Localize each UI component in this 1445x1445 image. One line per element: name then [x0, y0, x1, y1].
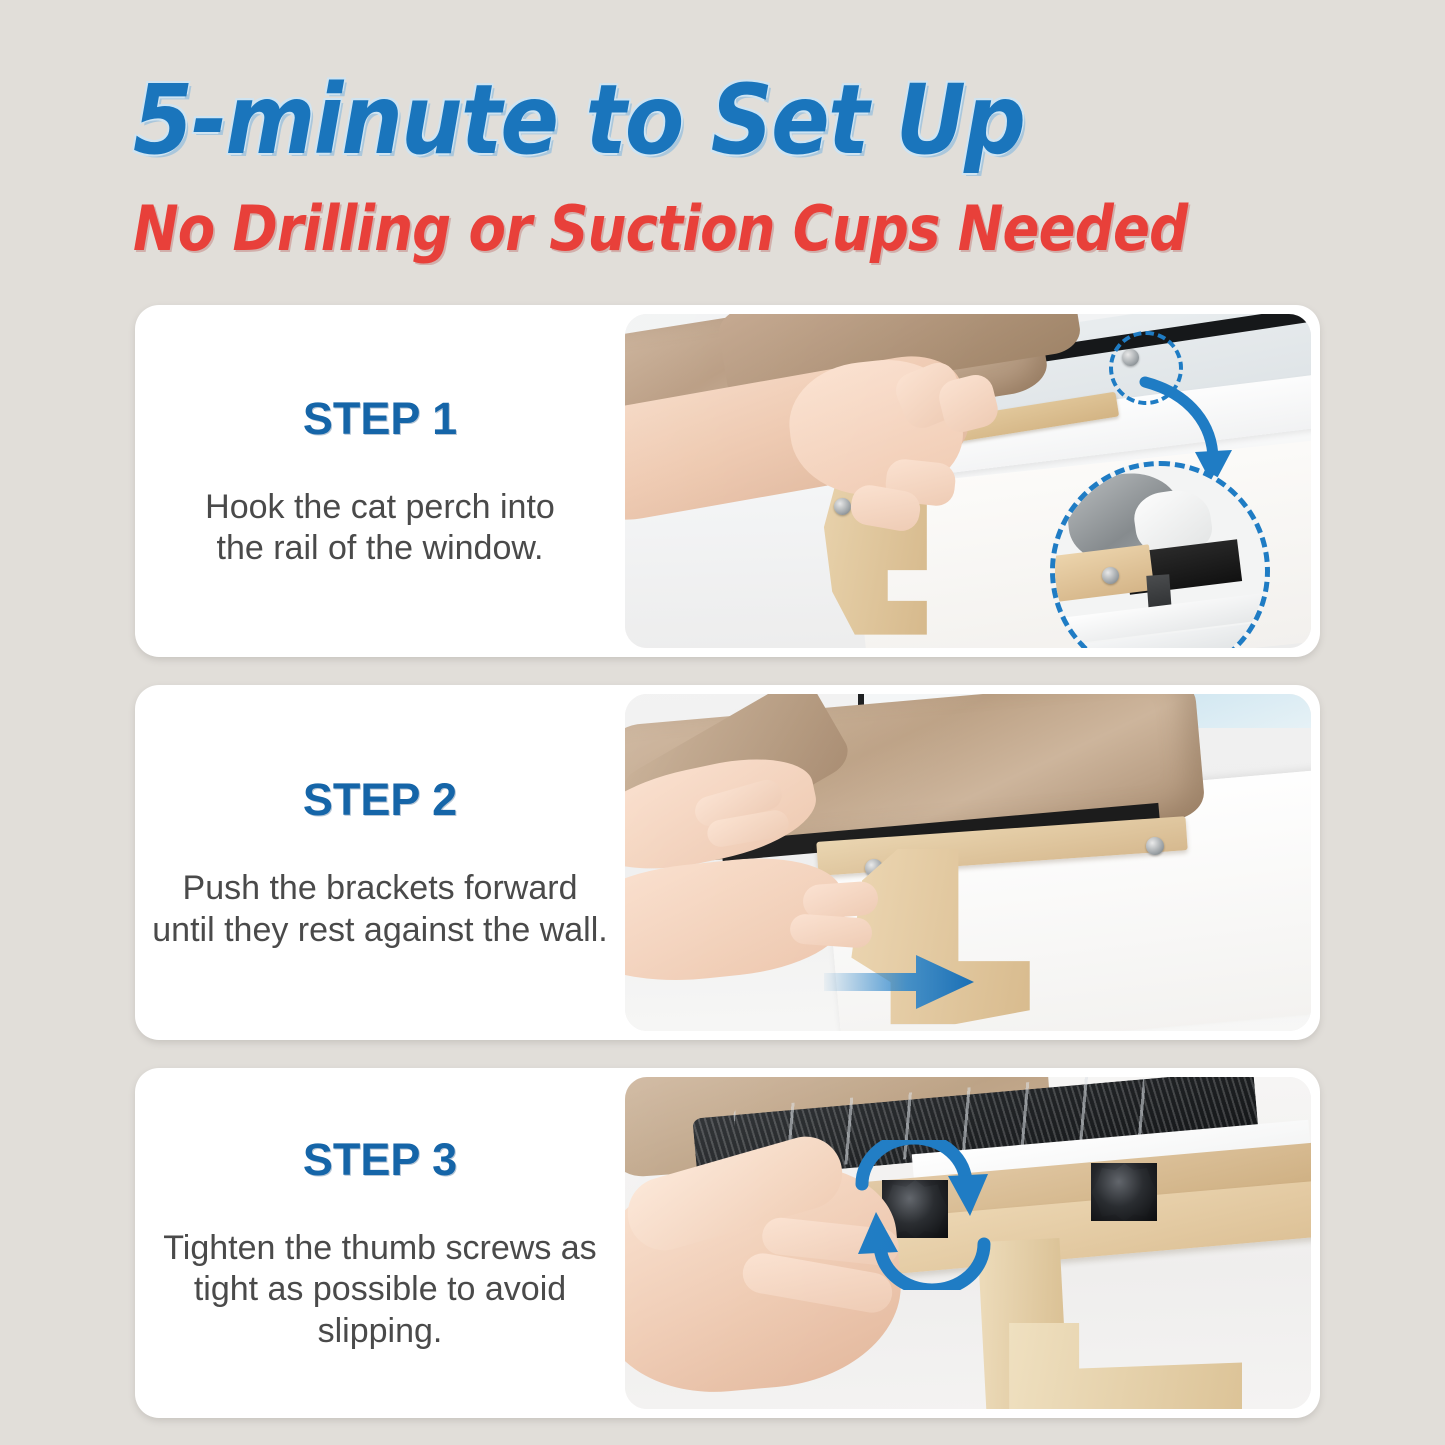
person-finger: [802, 880, 880, 919]
step-1-photo: [625, 314, 1311, 648]
step-1-label: STEP 1: [303, 393, 457, 445]
step-1-description: Hook the cat perch into the rail of the …: [205, 487, 555, 570]
step-2-label: STEP 2: [303, 774, 457, 826]
step-3-label: STEP 3: [303, 1134, 457, 1186]
step-3-description: Tighten the thumb screws as tight as pos…: [163, 1228, 596, 1352]
page-subtitle: No Drilling or Suction Cups Needed: [133, 198, 1288, 260]
step-card-2: STEP 2 Push the brackets forward until t…: [135, 685, 1320, 1040]
thumb-screw-star-shape: [1091, 1163, 1157, 1221]
step-2-photo: [625, 694, 1311, 1031]
step-3-text-column: STEP 3 Tighten the thumb screws as tight…: [135, 1068, 625, 1418]
step-2-text-column: STEP 2 Push the brackets forward until t…: [135, 685, 625, 1040]
step-card-3: STEP 3 Tighten the thumb screws as tight…: [135, 1068, 1320, 1418]
headings-block: 5-minute to Set Up No Drilling or Suctio…: [0, 0, 1445, 260]
detail-screw: [1102, 567, 1119, 584]
push-direction-arrow-icon: [824, 953, 974, 1011]
rotation-arrows-icon: [838, 1140, 1008, 1290]
step-2-description: Push the brackets forward until they res…: [152, 868, 607, 951]
step-3-photo: [625, 1077, 1311, 1409]
steps-list: STEP 1 Hook the cat perch into the rail …: [135, 305, 1320, 1418]
step-card-1: STEP 1 Hook the cat perch into the rail …: [135, 305, 1320, 657]
page-title: 5-minute to Set Up: [133, 72, 1314, 168]
thumb-screw-knob: [1091, 1163, 1157, 1221]
bracket-screw: [834, 498, 851, 515]
step-1-text-column: STEP 1 Hook the cat perch into the rail …: [135, 305, 625, 657]
